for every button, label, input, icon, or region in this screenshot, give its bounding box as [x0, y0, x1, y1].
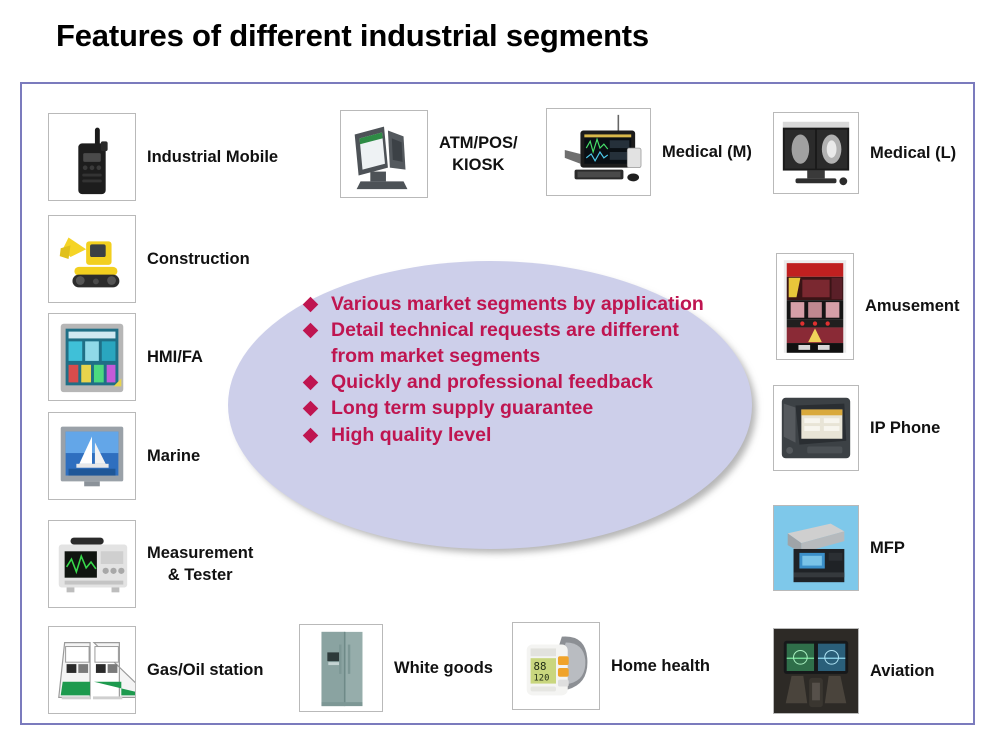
- segment-label: Construction: [147, 248, 250, 270]
- two-way-radio-icon: [48, 113, 136, 201]
- segment-item-amusement[interactable]: Amusement: [776, 253, 959, 360]
- list-item: Long term supply guarantee: [305, 396, 705, 421]
- list-item: Various market segments by application: [305, 292, 705, 317]
- segment-label: Aviation: [870, 660, 934, 682]
- diamond-bullet-icon: [303, 401, 319, 417]
- excavator-icon: [48, 215, 136, 303]
- blood-pressure-monitor-icon: 88 120: [512, 622, 600, 710]
- page-title: Features of different industrial segment…: [56, 18, 649, 54]
- slot-machine-icon: [776, 253, 854, 360]
- segment-label: White goods: [394, 657, 493, 679]
- segment-label: IP Phone: [870, 417, 940, 439]
- fuel-dispenser-icon: [48, 626, 136, 714]
- segment-item-atm-pos-kiosk[interactable]: ATM/POS/ KIOSK: [340, 110, 518, 198]
- patient-monitor-icon: [546, 108, 651, 196]
- segment-label: Medical (M): [662, 141, 752, 163]
- list-item: High quality level: [305, 423, 705, 448]
- segment-label: Amusement: [865, 295, 959, 317]
- segment-item-white-goods[interactable]: White goods: [299, 624, 493, 712]
- segment-item-industrial-mobile[interactable]: Industrial Mobile: [48, 113, 278, 201]
- svg-text:120: 120: [534, 674, 550, 684]
- diamond-bullet-icon: [303, 375, 319, 391]
- slide-canvas: Features of different industrial segment…: [0, 0, 1003, 742]
- segment-item-mfp[interactable]: MFP: [773, 505, 905, 591]
- oscilloscope-icon: [48, 520, 136, 608]
- segment-item-home-health[interactable]: 88 120 Home health: [512, 622, 710, 710]
- bullet-text: Various market segments by application: [331, 293, 704, 315]
- multifunction-printer-icon: [773, 505, 859, 591]
- segment-label: Home health: [611, 655, 710, 677]
- segment-item-medical-m[interactable]: Medical (M): [546, 108, 752, 196]
- segment-label: Gas/Oil station: [147, 659, 263, 681]
- segment-item-ip-phone[interactable]: IP Phone: [773, 385, 940, 471]
- bullet-text: Long term supply guarantee: [331, 397, 593, 419]
- segment-label: Measurement & Tester: [147, 542, 253, 587]
- svg-text:88: 88: [534, 660, 547, 673]
- bullet-text: High quality level: [331, 424, 491, 446]
- marine-monitor-icon: [48, 412, 136, 500]
- segment-label: Industrial Mobile: [147, 146, 278, 168]
- segment-label: Medical (L): [870, 142, 956, 164]
- segment-label: ATM/POS/ KIOSK: [439, 132, 518, 177]
- bullet-text: Quickly and professional feedback: [331, 371, 653, 393]
- segment-item-aviation[interactable]: Aviation: [773, 628, 934, 714]
- diamond-bullet-icon: [303, 297, 319, 313]
- segment-item-construction[interactable]: Construction: [48, 215, 250, 303]
- radiology-display-icon: [773, 112, 859, 194]
- hmi-panel-icon: [48, 313, 136, 401]
- segment-label: Marine: [147, 445, 200, 467]
- pos-terminal-icon: [340, 110, 428, 198]
- diamond-bullet-icon: [303, 323, 319, 339]
- segment-label: HMI/FA: [147, 346, 203, 368]
- ip-phone-icon: [773, 385, 859, 471]
- segment-item-hmi-fa[interactable]: HMI/FA: [48, 313, 203, 401]
- segment-item-medical-l[interactable]: Medical (L): [773, 112, 956, 194]
- diamond-bullet-icon: [303, 427, 319, 443]
- refrigerator-icon: [299, 624, 383, 712]
- list-item: Quickly and professional feedback: [305, 370, 705, 395]
- bullet-text: Detail technical requests are different …: [331, 319, 679, 366]
- cockpit-display-icon: [773, 628, 859, 714]
- segment-item-measurement-tester[interactable]: Measurement & Tester: [48, 520, 253, 608]
- segment-item-marine[interactable]: Marine: [48, 412, 200, 500]
- list-item: Detail technical requests are different …: [305, 318, 705, 369]
- segment-label: MFP: [870, 537, 905, 559]
- highlight-bullet-list: Various market segments by application D…: [305, 292, 705, 449]
- segment-item-gas-oil-station[interactable]: Gas/Oil station: [48, 626, 263, 714]
